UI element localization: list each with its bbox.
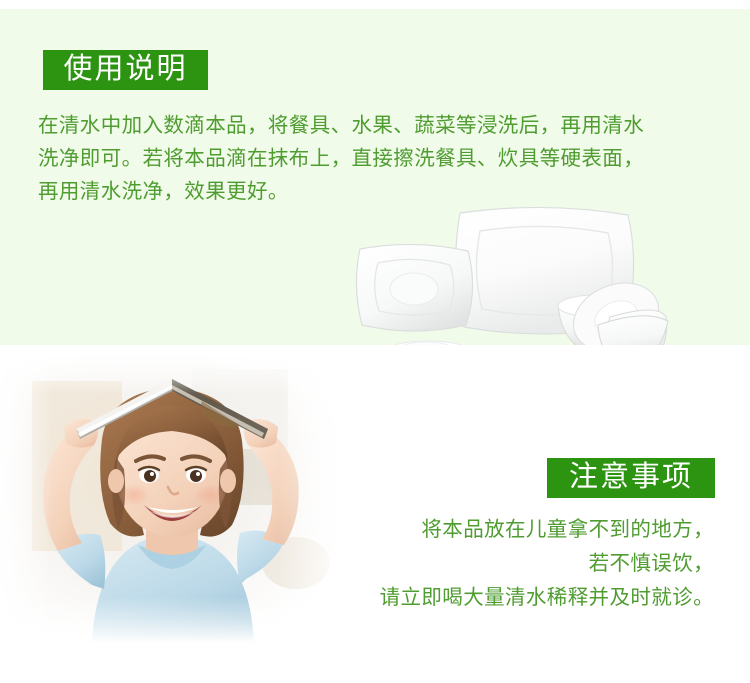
caution-text-line-1: 将本品放在儿童拿不到的地方， xyxy=(254,513,714,547)
caution-text-line-3: 请立即喝大量清水稀释并及时就诊。 xyxy=(254,581,714,615)
usage-text-line-2: 洗净即可。若将本品滴在抹布上，直接擦洗餐具、炊具等硬表面， xyxy=(38,142,728,175)
caution-section: 注意事项 将本品放在儿童拿不到的地方， 若不慎误饮， 请立即喝大量清水稀释并及时… xyxy=(0,345,750,683)
caution-text-line-2: 若不慎误饮， xyxy=(254,547,714,581)
usage-section-heading-badge: 使用说明 xyxy=(43,50,208,90)
dinnerware-set-image xyxy=(348,205,750,345)
product-detail-page: 使用说明 在清水中加入数滴本品，将餐具、水果、蔬菜等浸洗后，再用清水 洗净即可。… xyxy=(0,0,750,683)
usage-instructions-section: 使用说明 在清水中加入数滴本品，将餐具、水果、蔬菜等浸洗后，再用清水 洗净即可。… xyxy=(0,9,750,345)
caution-warning-text: 将本品放在儿童拿不到的地方， 若不慎误饮， 请立即喝大量清水稀释并及时就诊。 xyxy=(254,513,714,615)
usage-text-line-1: 在清水中加入数滴本品，将餐具、水果、蔬菜等浸洗后，再用清水 xyxy=(38,109,728,142)
caution-section-heading-badge: 注意事项 xyxy=(547,458,715,498)
usage-text-line-3: 再用清水洗净，效果更好。 xyxy=(38,175,728,208)
usage-instructions-text: 在清水中加入数滴本品，将餐具、水果、蔬菜等浸洗后，再用清水 洗净即可。若将本品滴… xyxy=(38,109,728,208)
